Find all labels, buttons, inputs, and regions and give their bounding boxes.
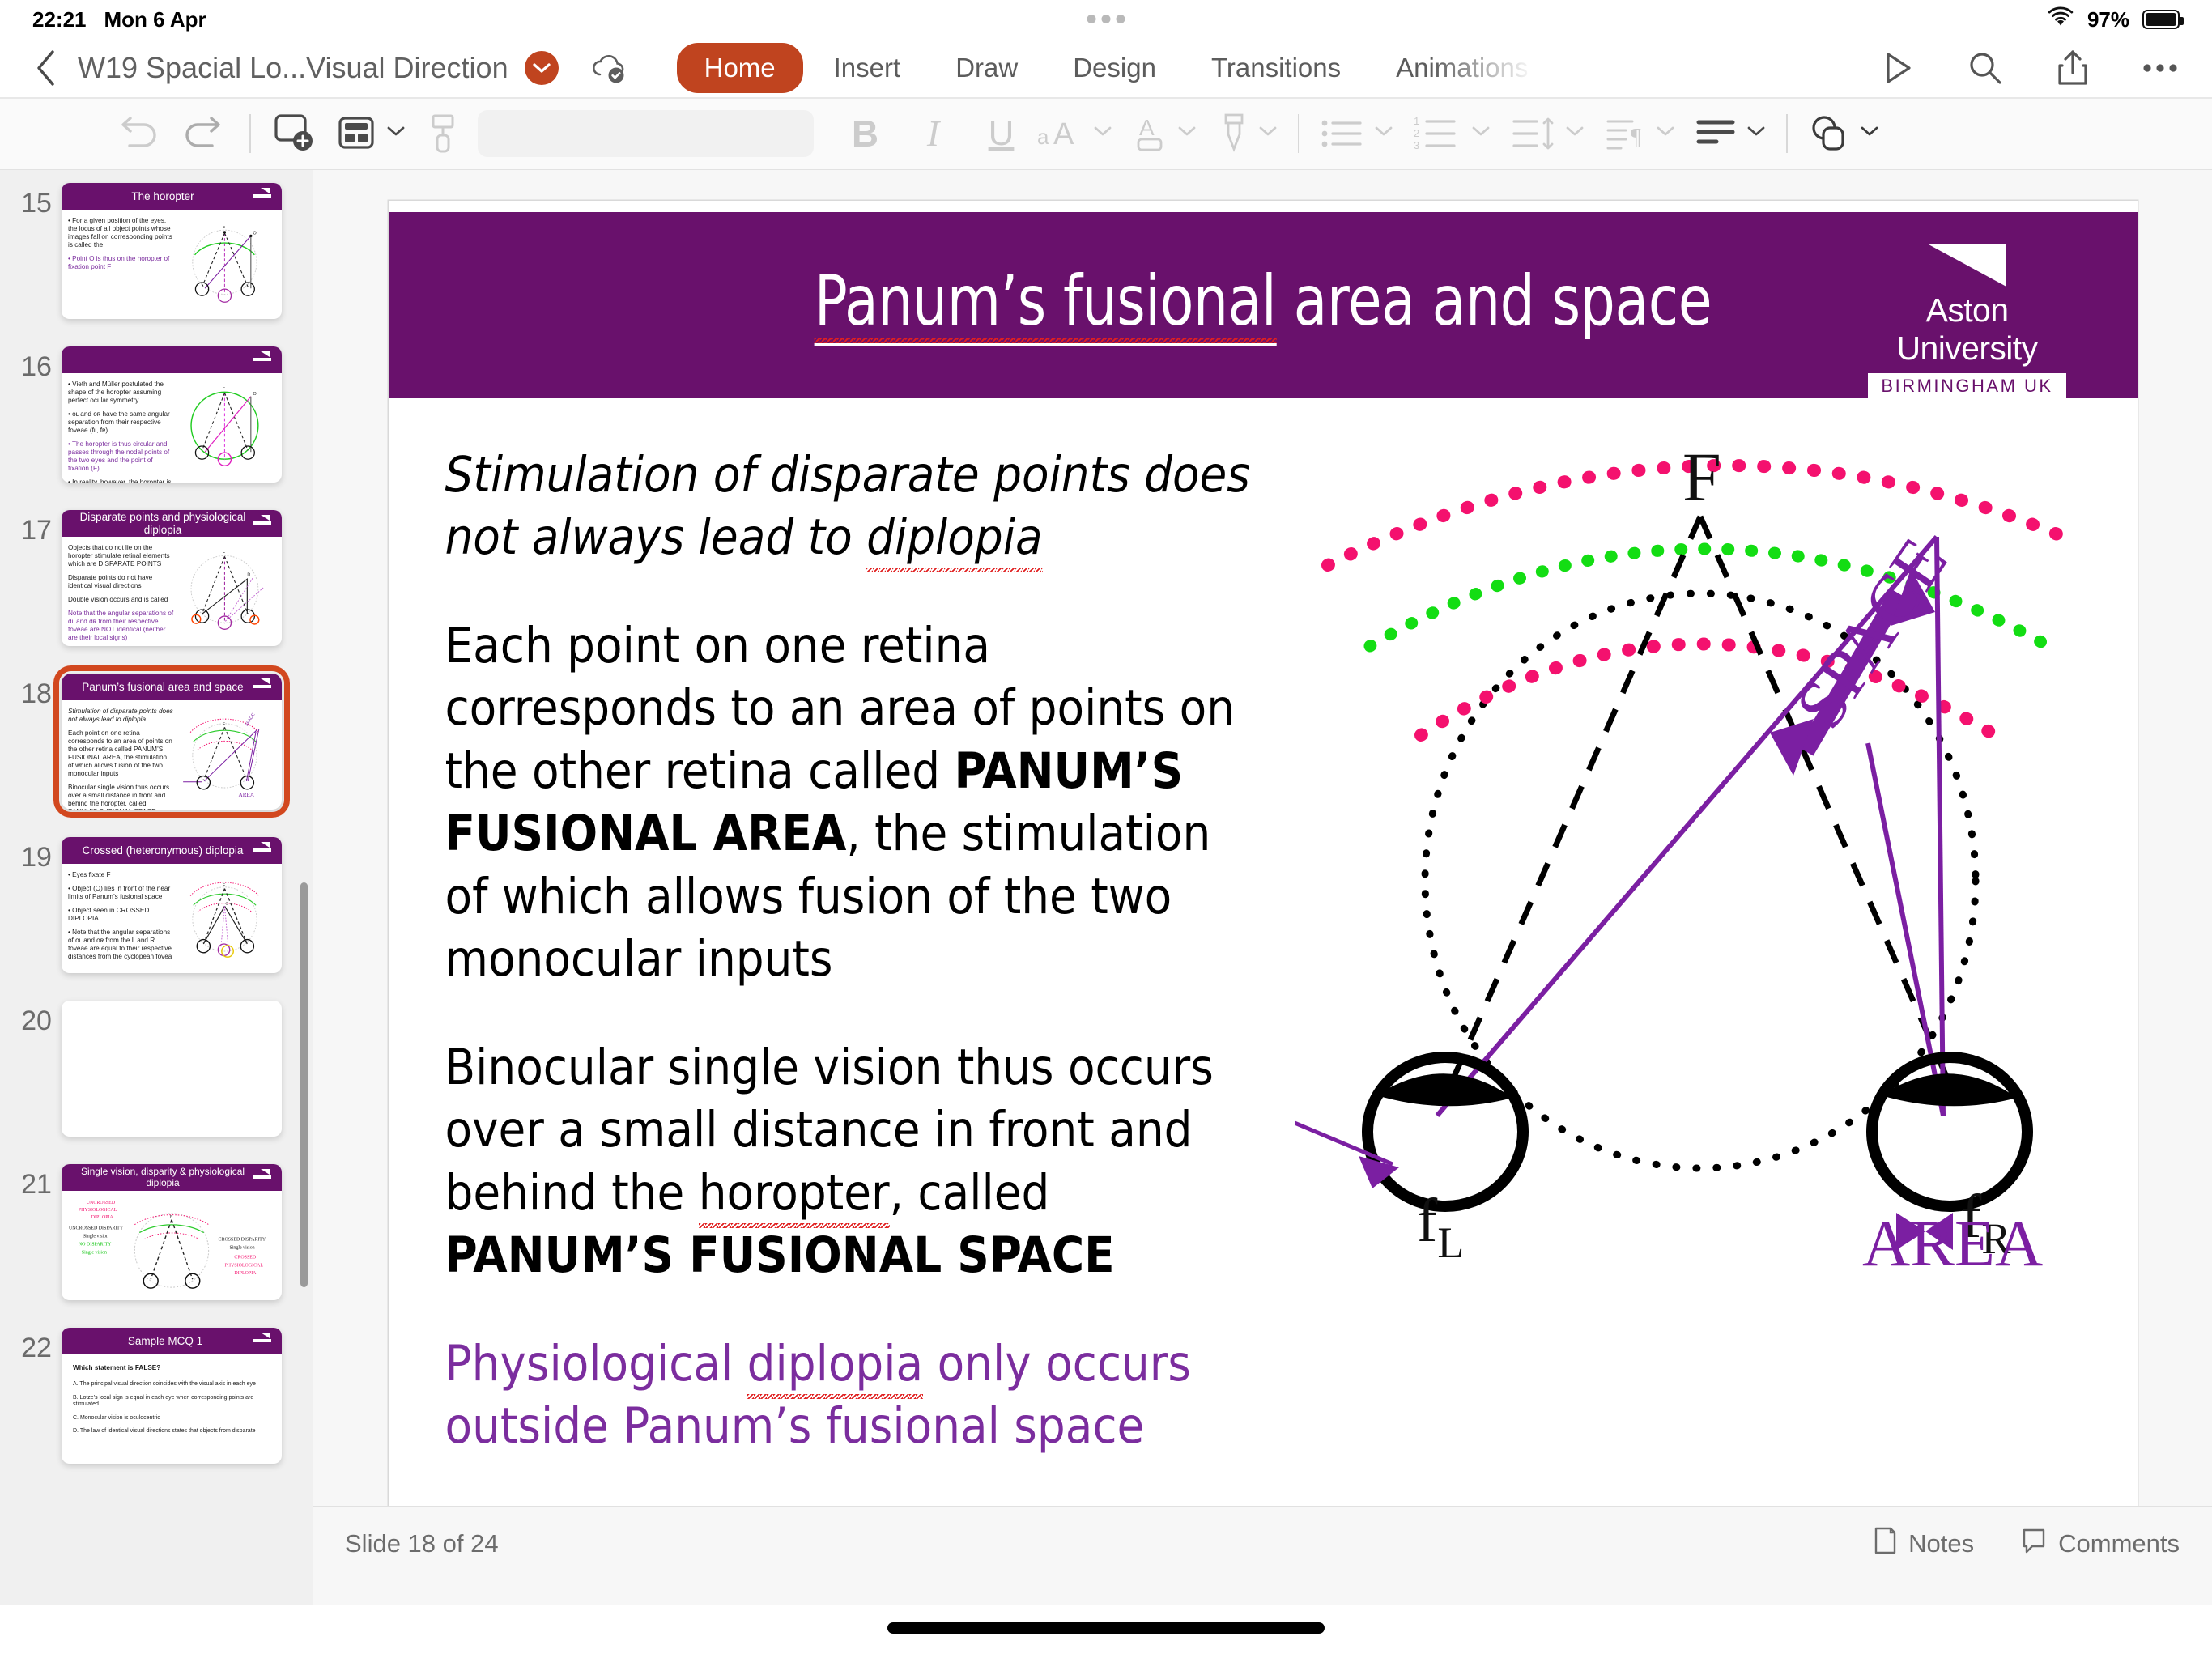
thumb-text: Objects that do not lie on the horopter … (68, 544, 174, 639)
tab-draw[interactable]: Draw (931, 43, 1042, 93)
thumb-body: • Vieth and Müller postulated the shape … (62, 373, 282, 483)
thumb-body: Objects that do not lie on the horopter … (62, 537, 282, 646)
aston-logo-icon (253, 678, 276, 695)
thumbnail-card[interactable]: Single vision, disparity & physiological… (62, 1164, 282, 1300)
para3-bold: PANUM’S FUSIONAL SPACE (445, 1226, 1115, 1284)
thumbnail-number: 20 (11, 1001, 62, 1037)
redo-icon[interactable] (181, 108, 228, 159)
aston-logo-icon (253, 515, 276, 532)
status-bar-right: 97% (2047, 6, 2180, 33)
tab-home[interactable]: Home (677, 43, 803, 93)
thumbnail-card[interactable]: The horopter • For a given position of t… (62, 183, 282, 319)
thumbnail-slide-22[interactable]: 22 Sample MCQ 1 Which statement is FALSE… (0, 1328, 313, 1464)
home-indicator[interactable] (887, 1622, 1325, 1634)
chevron-down-icon[interactable] (1472, 126, 1490, 141)
thumb-line: Binocular single vision thus occurs over… (68, 784, 174, 810)
highlight-icon[interactable] (1217, 108, 1277, 159)
thumbnail-slide-20[interactable]: 20 (0, 1001, 313, 1137)
svg-text:AREA: AREA (239, 792, 255, 798)
aston-logo-icon (253, 1333, 276, 1350)
thumb-diagram: FO (174, 871, 275, 966)
svg-text:F: F (223, 226, 226, 231)
panum-fusional-space-diagram: SPACE F (1295, 403, 2129, 1278)
svg-text:UNCROSSED: UNCROSSED (87, 1201, 116, 1205)
font-color-icon[interactable]: A (1133, 108, 1196, 159)
thumb-line: • Object seen in CROSSED DIPLOPIA (68, 907, 174, 923)
svg-text:a: a (1037, 125, 1049, 149)
main-body: 15 The horopter • For a given position o… (0, 170, 2212, 1605)
tab-design[interactable]: Design (1049, 43, 1180, 93)
thumb-title-band: The horopter (62, 183, 282, 210)
thumb-diagram: FD (174, 544, 275, 639)
thumb-title-band: Panum’s fusional area and space (62, 674, 282, 700)
thumb-diagram: F SPACE AREA (174, 708, 275, 802)
svg-text:DIPLOPIA: DIPLOPIA (234, 1271, 257, 1276)
area-label: AREA (1862, 1206, 2043, 1278)
thumb-text: Which statement is FALSE? A. The princip… (73, 1364, 270, 1435)
thumb-title: The horopter (121, 190, 221, 202)
header-actions (1875, 45, 2183, 91)
thumbnail-card-blank[interactable] (62, 1001, 282, 1137)
misspelled-word: horopter (699, 1164, 890, 1228)
aston-triangle-icon (1929, 244, 2006, 287)
aston-university-logo: Aston University BIRMINGHAM UK (1854, 244, 2081, 399)
thumb-title: Sample MCQ 1 (113, 1335, 230, 1347)
underline-icon[interactable]: U (968, 108, 1036, 159)
slide-body-text[interactable]: Stimulation of disparate points does not… (445, 444, 1263, 1503)
thumbnail-slide-15[interactable]: 15 The horopter • For a given position o… (0, 183, 313, 319)
status-date: Mon 6 Apr (104, 7, 206, 32)
play-slideshow-icon[interactable] (1875, 45, 1921, 91)
chevron-down-icon[interactable] (1861, 126, 1878, 141)
thumb-line: • Vieth and Müller postulated the shape … (68, 380, 174, 405)
thumb-line: • oʟ and oʀ have the same angular separa… (68, 410, 174, 435)
notes-icon (1873, 1526, 1897, 1562)
chevron-down-icon[interactable] (1657, 126, 1674, 141)
status-bar-buttons: Notes Comments (1873, 1526, 2180, 1562)
thumb-body: Which statement is FALSE? A. The princip… (62, 1354, 282, 1464)
thumb-body: Stimulation of disparate points does not… (62, 700, 282, 810)
svg-text:UNCROSSED DISPARITY: UNCROSSED DISPARITY (69, 1226, 124, 1231)
thumb-line: Each point on one retina corresponds to … (68, 729, 174, 778)
font-name-field[interactable] (478, 110, 814, 157)
undo-icon[interactable] (113, 108, 160, 159)
thumb-title: Crossed (heteronymous) diplopia (73, 844, 271, 857)
chevron-down-icon[interactable] (387, 126, 405, 141)
svg-text:F: F (170, 1214, 172, 1219)
comments-label: Comments (2058, 1529, 2180, 1558)
thumbnail-number: 18 (11, 674, 62, 710)
thumbnail-number: 19 (11, 837, 62, 874)
ribbon-tab-bar[interactable]: Home Insert Draw Design Transitions Anim… (677, 39, 1535, 97)
left-eye (1368, 1057, 1523, 1206)
thumbnail-slide-17[interactable]: 17 Disparate points and physiological di… (0, 510, 313, 646)
svg-text:PHYSIOLOGICAL: PHYSIOLOGICAL (79, 1208, 117, 1213)
thumbnail-number: 22 (11, 1328, 62, 1364)
chevron-down-icon[interactable] (1259, 126, 1277, 141)
svg-text:O: O (225, 901, 228, 905)
svg-text:PHYSIOLOGICAL: PHYSIOLOGICAL (225, 1263, 264, 1268)
thumb-title-band (62, 346, 282, 373)
svg-text:DIPLOPIA: DIPLOPIA (91, 1215, 114, 1220)
battery-icon (2142, 10, 2180, 29)
chevron-down-icon[interactable] (1094, 126, 1112, 141)
left-visual-axis (1448, 517, 1700, 1091)
svg-text:A: A (1053, 117, 1074, 151)
share-icon[interactable] (2050, 45, 2095, 91)
slide-paragraph-2: Each point on one retina corresponds to … (445, 614, 1263, 991)
thumb-title: Panum’s fusional area and space (72, 681, 270, 693)
svg-text:3: 3 (1414, 139, 1419, 151)
chevron-down-icon[interactable] (1747, 126, 1765, 141)
thumb-line: • In reality, however, the horopter is m… (68, 478, 174, 483)
thumb-title-band: Single vision, disparity & physiological… (62, 1164, 282, 1191)
bullet-list-icon[interactable] (1320, 108, 1393, 159)
status-time: 22:21 (32, 7, 87, 32)
thumb-text: • For a given position of the eyes, the … (68, 217, 174, 312)
aston-logo-icon (253, 351, 276, 368)
font-size-icon[interactable]: aA (1036, 108, 1112, 159)
comment-bubble-icon (2021, 1527, 2047, 1561)
slide-thumbnail-rail[interactable]: 15 The horopter • For a given position o… (0, 170, 313, 1605)
thumb-text: • Vieth and Müller postulated the shape … (68, 380, 174, 475)
format-toolbar: B I U aA A 123 ¶ (0, 97, 2212, 170)
text-direction-icon[interactable]: ¶ (1605, 108, 1674, 159)
notes-label: Notes (1908, 1529, 1974, 1558)
near-panum-limit (1421, 644, 2008, 743)
svg-text:2: 2 (1414, 127, 1419, 139)
thumbnail-card[interactable]: Disparate points and physiological diplo… (62, 510, 282, 646)
slide-paragraph-3: Binocular single vision thus occurs over… (445, 1036, 1263, 1287)
thumb-title: Disparate points and physiological diplo… (62, 511, 282, 535)
thumbnail-rail-scrollbar[interactable] (300, 882, 308, 1287)
slide-paragraph-1: Stimulation of disparate points does not… (445, 444, 1263, 569)
status-bar-left: 22:21 Mon 6 Apr (32, 7, 206, 32)
thumb-diagram: FO (174, 380, 275, 475)
svg-text:D: D (247, 573, 250, 578)
chevron-down-icon[interactable] (1178, 126, 1196, 141)
bold-icon[interactable]: B (832, 108, 900, 159)
tab-insert[interactable]: Insert (810, 43, 925, 93)
svg-text:Single vision: Single vision (229, 1245, 254, 1250)
notes-button[interactable]: Notes (1873, 1526, 1974, 1562)
new-slide-icon[interactable] (272, 108, 316, 159)
thumb-title-band: Crossed (heteronymous) diplopia (62, 837, 282, 864)
current-slide[interactable]: Panum’s fusional area and space Aston Un… (389, 201, 2138, 1512)
slide-layout-icon[interactable] (337, 108, 405, 159)
thumb-line: A. The principal visual direction coinci… (73, 1381, 270, 1388)
misspelled-word: diplopia (747, 1335, 924, 1399)
chevron-down-icon[interactable] (1566, 126, 1584, 141)
svg-text:O: O (253, 232, 257, 236)
svg-text:1: 1 (1414, 115, 1419, 127)
thumb-line: Note that the angular separations of dʟ … (68, 610, 174, 642)
thumb-line: Which statement is FALSE? (73, 1364, 270, 1372)
misspelled-word: diplopia (866, 508, 1043, 572)
numbered-list-icon[interactable]: 123 (1414, 108, 1490, 159)
thumb-line: Objects that do not lie on the horopter … (68, 544, 174, 568)
thumb-line: • Object (O) lies in front of the near l… (68, 885, 174, 901)
chevron-down-icon[interactable] (525, 51, 559, 85)
slide-counter: Slide 18 of 24 (345, 1529, 499, 1558)
shapes-icon[interactable] (1809, 108, 1878, 159)
thumb-line: • The horopter is thus circular and pass… (68, 440, 174, 473)
svg-text:A: A (1139, 115, 1155, 140)
document-title[interactable]: W19 Spacial Lo...Visual Direction (78, 51, 508, 85)
thumb-line: Stimulation of disparate points does not… (68, 708, 174, 724)
thumbnail-slide-19[interactable]: 19 Crossed (heteronymous) diplopia • Eye… (0, 837, 313, 973)
format-painter-icon[interactable] (426, 108, 460, 159)
thumb-line: • For a given position of the eyes, the … (68, 217, 174, 249)
space-label: SPACE (1780, 524, 1962, 742)
search-icon[interactable] (1963, 45, 2008, 91)
thumb-line: Disparate points do not have identical v… (68, 574, 174, 590)
aston-logo-city: BIRMINGHAM UK (1868, 373, 2065, 399)
thumbnail-number: 15 (11, 183, 62, 219)
slide-title-part1: Panum’s fusional (814, 261, 1276, 346)
battery-percent: 97% (2087, 7, 2129, 32)
aston-logo-icon (253, 1169, 276, 1186)
chevron-down-icon[interactable] (1375, 126, 1393, 141)
slide-title-part2: area and space (1276, 261, 1712, 342)
fixation-point-label: F (1682, 438, 1721, 516)
thumb-line: Double vision occurs and is called (68, 596, 174, 604)
more-ellipsis-icon[interactable] (2138, 45, 2183, 91)
svg-text:CROSSED: CROSSED (234, 1255, 256, 1260)
tab-animations[interactable]: Animations (1372, 43, 1535, 93)
thumbnail-slide-18[interactable]: 18 Panum’s fusional area and space Stimu… (0, 674, 313, 810)
thumb-text: • Eyes fixate F • Object (O) lies in fro… (68, 871, 174, 966)
thumb-diagram: F O (174, 217, 275, 312)
svg-text:¶: ¶ (1631, 125, 1641, 150)
thumbnail-number: 17 (11, 510, 62, 546)
tab-transitions[interactable]: Transitions (1187, 43, 1365, 93)
purple-ray-right-outer (1937, 537, 1943, 1116)
thumb-body: • For a given position of the eyes, the … (62, 210, 282, 319)
thumbnail-slide-21[interactable]: 21 Single vision, disparity & physiologi… (0, 1164, 313, 1300)
thumbnail-slide-16[interactable]: 16 • Vieth and Müller postulated the sha… (0, 346, 313, 483)
comments-button[interactable]: Comments (2021, 1527, 2180, 1561)
thumb-body: • Eyes fixate F • Object (O) lies in fro… (62, 864, 282, 973)
svg-text:F: F (223, 883, 226, 888)
right-eye (1872, 1057, 2027, 1206)
italic-icon[interactable]: I (900, 108, 968, 159)
svg-text:Single vision: Single vision (82, 1250, 107, 1255)
aston-logo-icon (253, 188, 276, 205)
thumb-line: C. Monocular vision is oculocentric (73, 1415, 270, 1422)
svg-text:CROSSED DISPARITY: CROSSED DISPARITY (219, 1238, 266, 1243)
svg-text:Single vision: Single vision (83, 1235, 108, 1239)
align-icon[interactable] (1695, 108, 1765, 159)
thumb-line: • Note that the angular separations of o… (68, 929, 174, 961)
slide-title[interactable]: Panum’s fusional area and space (493, 261, 2032, 342)
thumbnail-number: 21 (11, 1164, 62, 1201)
slide-status-bar: Slide 18 of 24 Notes Comments (313, 1506, 2212, 1580)
svg-text:F: F (223, 551, 226, 556)
aston-logo-name: Aston University (1854, 291, 2081, 368)
thumbnail-card[interactable]: Panum’s fusional area and space Stimulat… (62, 674, 282, 810)
thumb-text: Stimulation of disparate points does not… (68, 708, 174, 802)
aston-logo-icon (253, 842, 276, 859)
svg-text:F: F (223, 723, 226, 728)
ios-status-bar: 22:21 Mon 6 Apr 97% (0, 0, 2212, 39)
thumb-line: B. Lotze’s local sign is equal in each e… (73, 1395, 270, 1409)
slide-paragraph-4: Physiological diplopia only occurs outsi… (445, 1333, 1263, 1458)
thumb-title: Single vision, disparity & physiological… (62, 1167, 282, 1188)
thumb-line: • Point O is thus on the horopter of fix… (68, 255, 174, 271)
multitask-grabber-icon[interactable] (1087, 15, 1125, 23)
slide-stage[interactable]: Panum’s fusional area and space Aston Un… (313, 170, 2212, 1605)
thumbnail-number: 16 (11, 346, 62, 383)
line-spacing-icon[interactable] (1511, 108, 1584, 159)
thumb-line: • Eyes fixate F (68, 871, 174, 879)
back-button[interactable] (24, 46, 68, 90)
app-header: W19 Spacial Lo...Visual Direction Home I… (0, 39, 2212, 97)
cloud-synced-icon[interactable] (589, 49, 630, 87)
thumb-diagram: F UNCROSSED PHYSIOLOGICAL DIPLOPIA UNCRO… (63, 1192, 280, 1299)
svg-text:NO DISPARITY: NO DISPARITY (79, 1243, 112, 1248)
svg-text:O: O (253, 392, 257, 397)
thumb-title-band: Disparate points and physiological diplo… (62, 510, 282, 537)
thumbnail-card[interactable]: • Vieth and Müller postulated the shape … (62, 346, 282, 483)
thumb-body: F UNCROSSED PHYSIOLOGICAL DIPLOPIA UNCRO… (62, 1191, 282, 1300)
thumb-title-band: Sample MCQ 1 (62, 1328, 282, 1354)
thumbnail-card[interactable]: Crossed (heteronymous) diplopia • Eyes f… (62, 837, 282, 973)
thumbnail-card[interactable]: Sample MCQ 1 Which statement is FALSE? A… (62, 1328, 282, 1464)
wifi-icon (2047, 6, 2074, 33)
thumb-line: D. The law of identical visual direction… (73, 1428, 270, 1435)
